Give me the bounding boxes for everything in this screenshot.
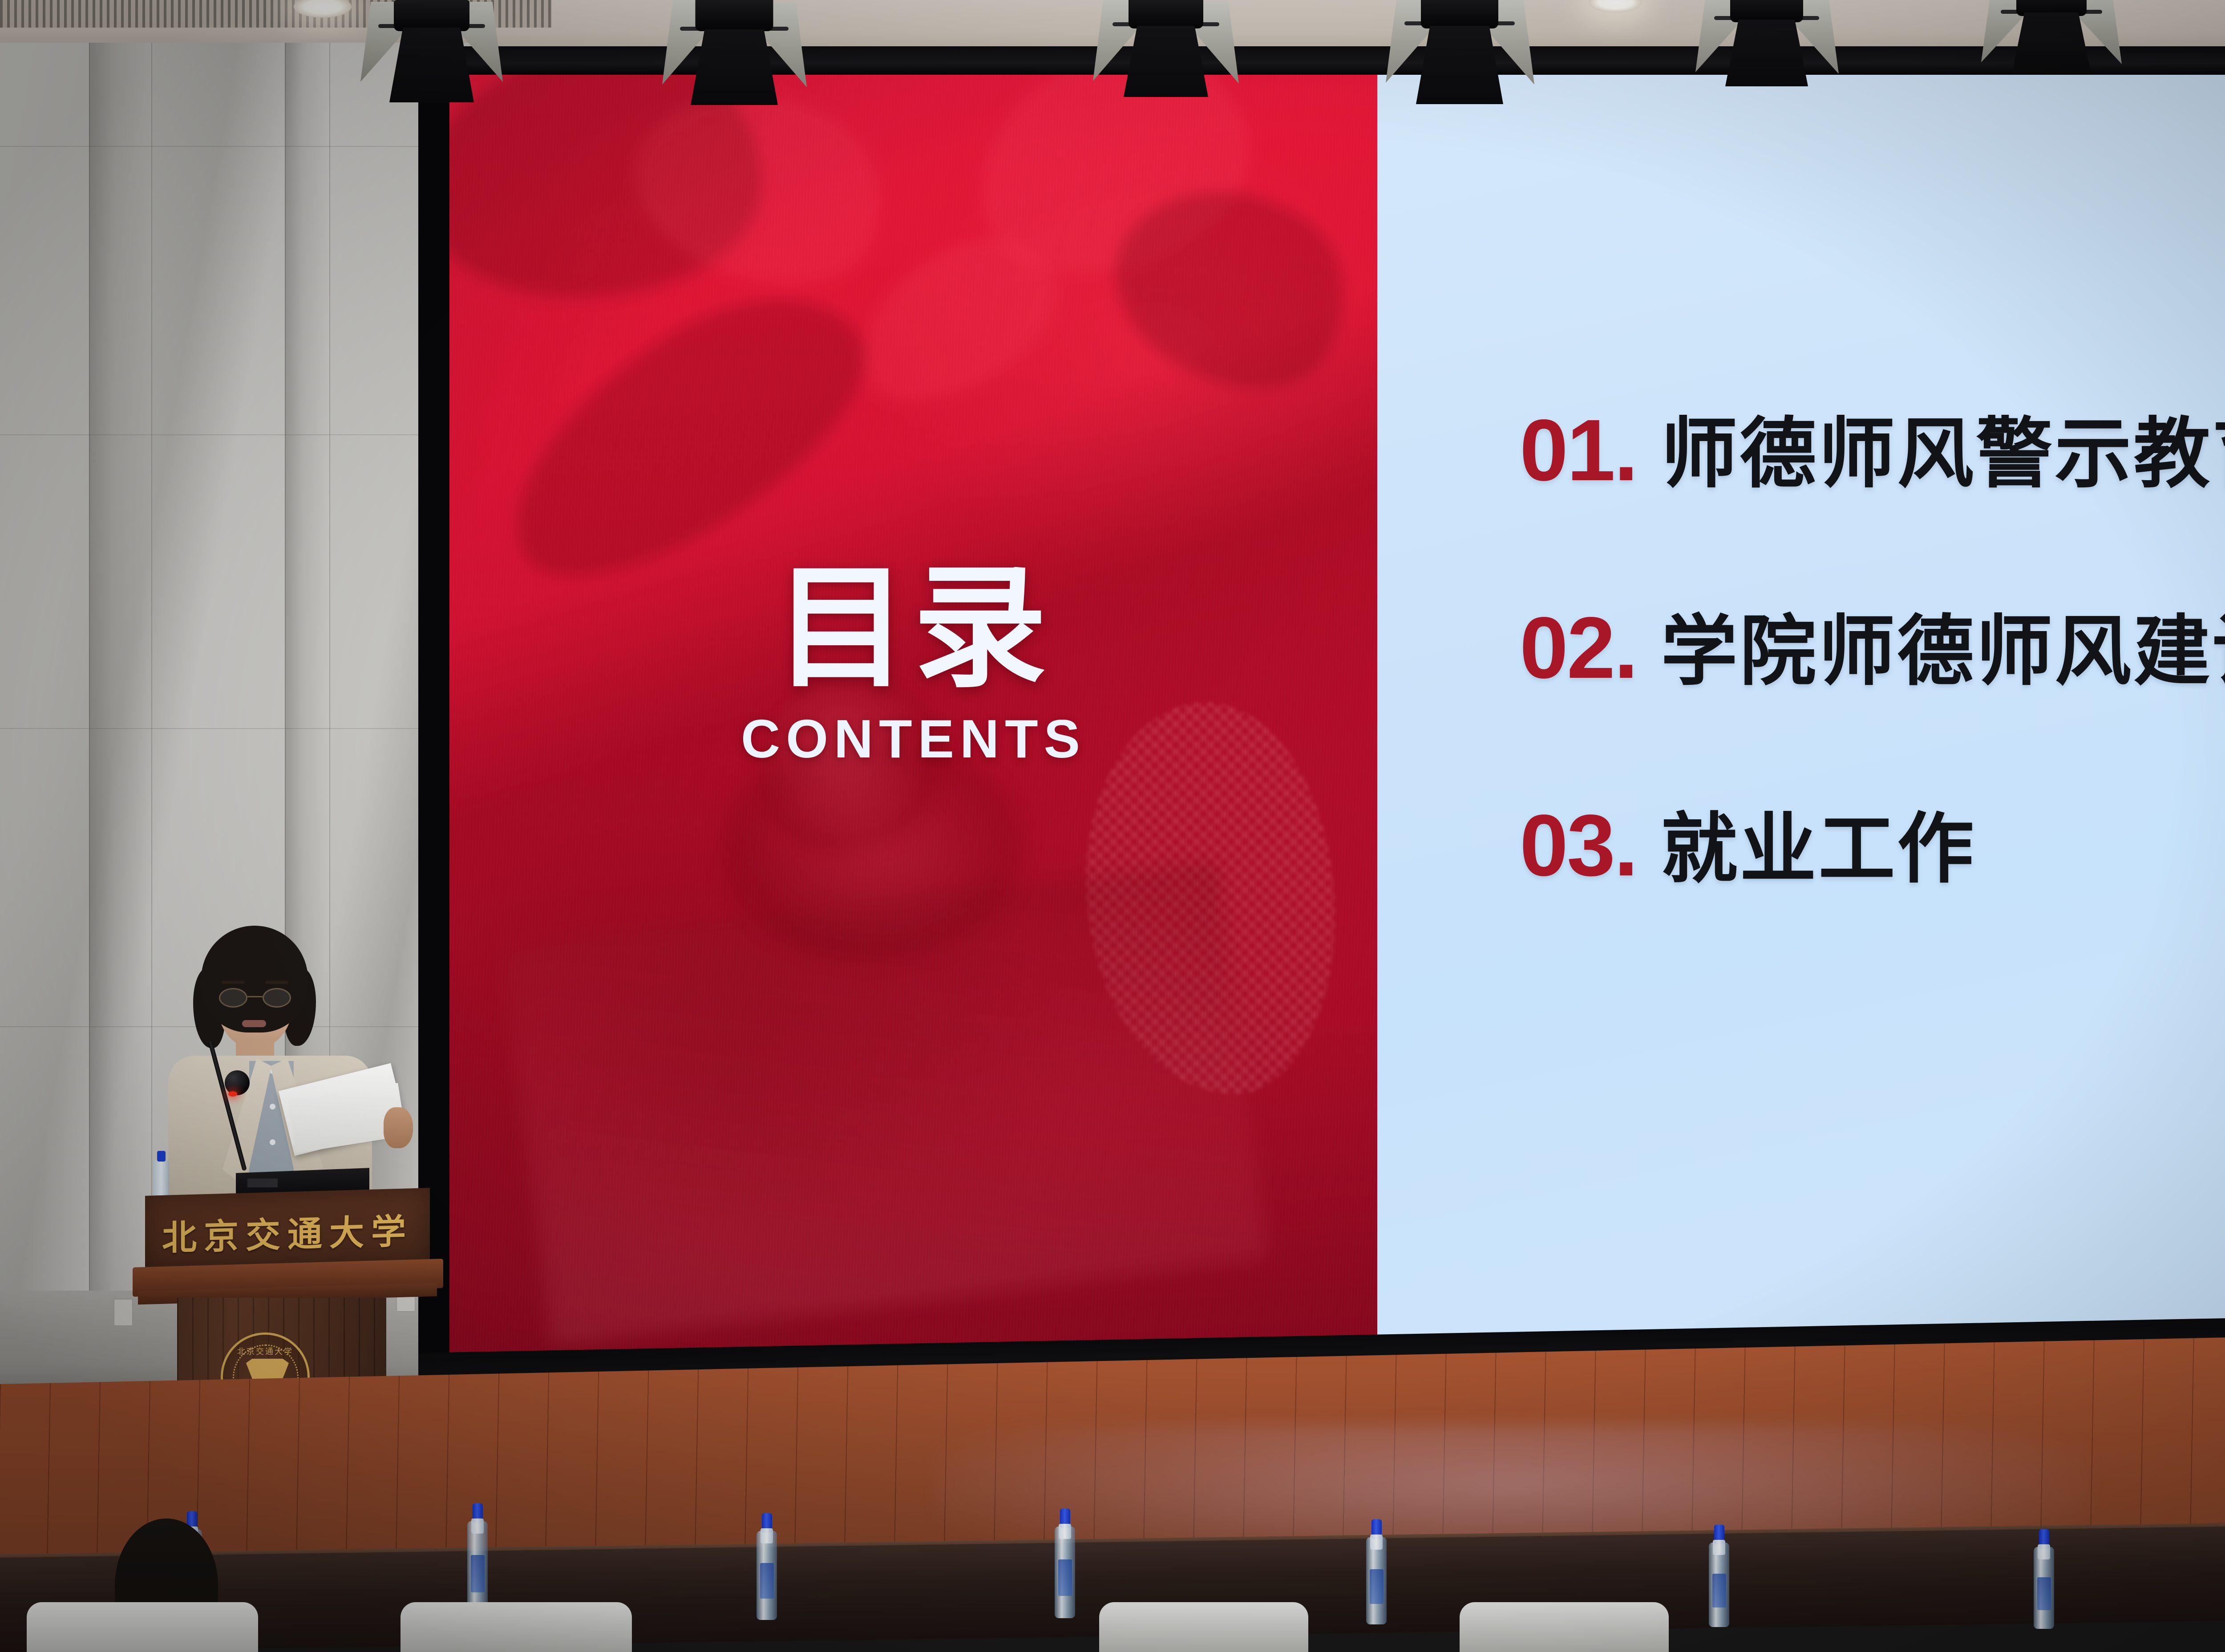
- table-of-contents: 01. 师德师风警示教育 02. 学院师德师风建设工作 03. 就业工作: [1520, 407, 2225, 1000]
- toc-item-number: 02.: [1520, 604, 1637, 692]
- hand: [384, 1107, 413, 1148]
- toc-item-label: 师德师风警示教育: [1661, 416, 2225, 492]
- hair: [201, 926, 308, 1032]
- water-bottle: [2034, 1547, 2054, 1629]
- mouth: [242, 1020, 266, 1027]
- podium-nameplate: 北京交通大学: [145, 1188, 430, 1272]
- stage-light: [1985, 0, 2118, 89]
- podium-university-name: 北京交通大学: [145, 1203, 430, 1261]
- water-bottle: [1709, 1543, 1729, 1627]
- toc-item-number: 01.: [1520, 407, 1637, 494]
- audience-chair: [1099, 1602, 1308, 1652]
- toc-item: 01. 师德师风警示教育: [1520, 407, 2225, 494]
- audience-chair: [400, 1602, 632, 1652]
- stage-light: [1393, 0, 1526, 107]
- water-bottle: [1366, 1537, 1387, 1624]
- eyeglasses: [219, 988, 291, 1008]
- monitor-bezel-label: [247, 1178, 278, 1187]
- stage-light: [365, 0, 498, 102]
- slide-title-cn: 目录: [449, 560, 1377, 696]
- audience-chair: [27, 1602, 258, 1652]
- stage-light: [1700, 0, 1833, 98]
- stage-light: [667, 0, 801, 102]
- stage-light: [1099, 0, 1233, 102]
- slide-subtitle-en: CONTENTS: [449, 708, 1377, 770]
- slide-left-panel: 目录 CONTENTS: [449, 66, 1377, 1374]
- microphone-led-indicator: [228, 1091, 237, 1097]
- toc-item: 02. 学院师德师风建设工作: [1520, 604, 2225, 692]
- wall-outlet: [113, 1299, 133, 1326]
- slide-title-block: 目录 CONTENTS: [449, 560, 1377, 770]
- microphone-head: [225, 1070, 250, 1095]
- toc-item: 03. 就业工作: [1520, 802, 2225, 889]
- slide-right-panel: 01. 师德师风警示教育 02. 学院师德师风建设工作 03. 就业工作: [1377, 55, 2225, 1376]
- screenshot-root: 目录 CONTENTS 01. 师德师风警示教育 02. 学院师德师风建设工作 …: [0, 0, 2225, 1652]
- toc-item-label: 学院师德师风建设工作: [1661, 613, 2225, 690]
- water-bottle: [467, 1521, 488, 1615]
- water-bottle: [756, 1531, 777, 1620]
- audience-chair: [1460, 1602, 1669, 1652]
- speaker: [166, 926, 375, 1202]
- toc-item-number: 03.: [1520, 802, 1637, 889]
- toc-item-label: 就业工作: [1661, 811, 1976, 887]
- emblem-name-cn: 北京交通大学: [223, 1345, 307, 1357]
- water-bottle: [1055, 1526, 1075, 1618]
